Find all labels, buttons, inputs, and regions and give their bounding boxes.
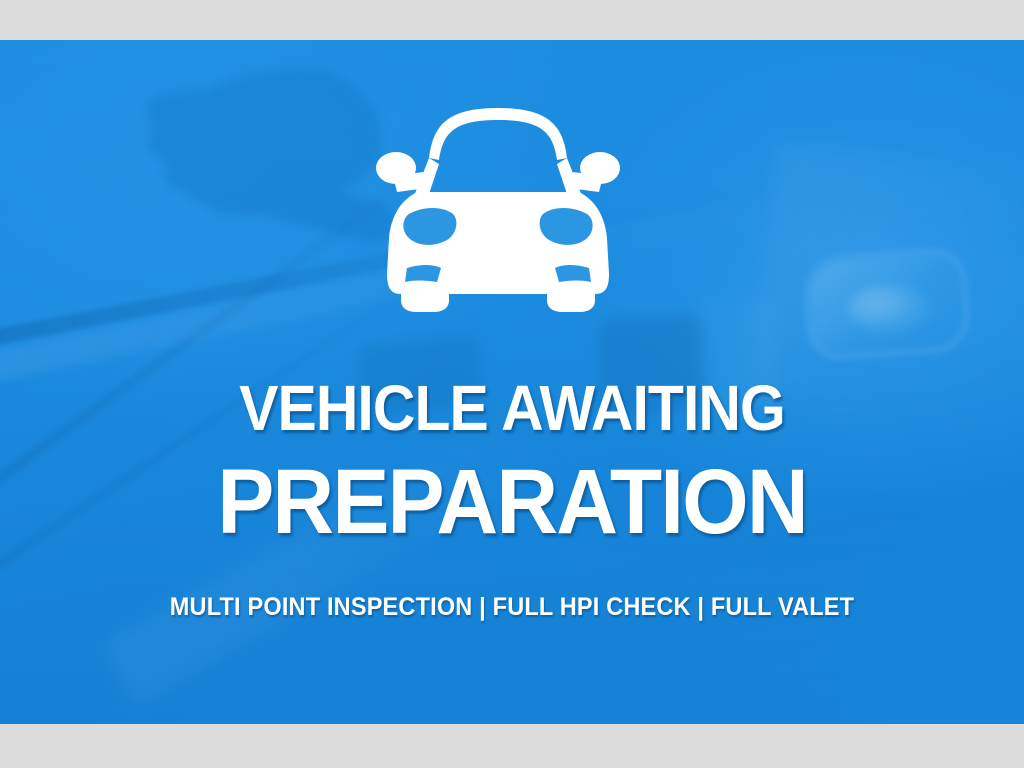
services-subtitle: MULTI POINT INSPECTION | FULL HPI CHECK … (31, 592, 994, 622)
image-canvas: VEHICLE AWAITING PREPARATION MULTI POINT… (0, 0, 1024, 768)
vehicle-awaiting-preparation-banner: VEHICLE AWAITING PREPARATION MULTI POINT… (0, 40, 1024, 724)
headline-line-2: PREPARATION (36, 456, 988, 548)
top-letterbox-bar (0, 0, 1024, 40)
headline-line-1: VEHICLE AWAITING (41, 376, 983, 440)
bottom-letterbox-bar (0, 724, 1024, 768)
banner-content: VEHICLE AWAITING PREPARATION MULTI POINT… (0, 40, 1024, 724)
car-front-icon (371, 88, 625, 316)
